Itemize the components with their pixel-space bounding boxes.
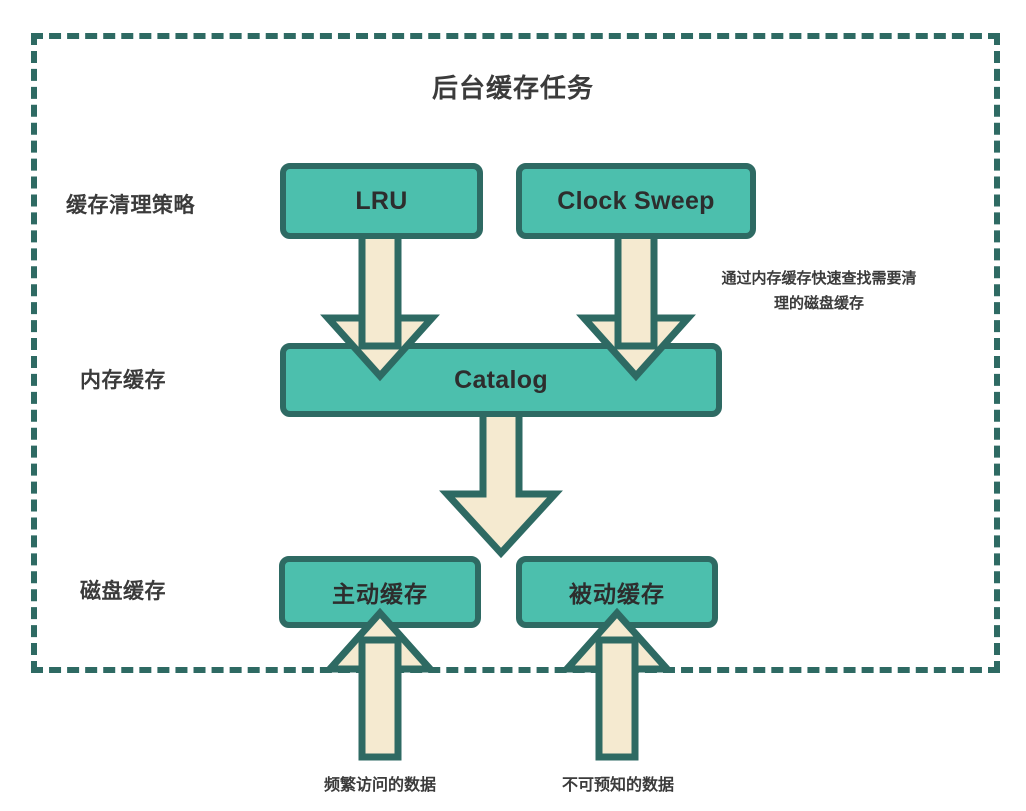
annotation-memory-cache-lookup: 通过内存缓存快速查找需要清 理的磁盘缓存 (668, 266, 970, 316)
node-box-passive-cache[interactable] (519, 559, 715, 625)
node-box-catalog[interactable] (283, 346, 719, 414)
row-label-cache-eviction-policy: 缓存清理策略 (66, 189, 195, 219)
diagram-canvas: 后台缓存任务 缓存清理策略 内存缓存 磁盘缓存 LRU Clock Sweep … (0, 0, 1026, 811)
node-box-active-cache[interactable] (282, 559, 478, 625)
row-label-disk-cache: 磁盘缓存 (80, 575, 166, 605)
row-label-memory-cache: 内存缓存 (80, 364, 166, 394)
node-box-lru[interactable] (283, 166, 480, 236)
caption-frequently-accessed-data: 频繁访问的数据 (280, 771, 480, 795)
caption-unpredictable-data: 不可预知的数据 (518, 771, 718, 795)
diagram-title: 后台缓存任务 (0, 68, 1026, 105)
node-box-clock-sweep[interactable] (519, 166, 753, 236)
